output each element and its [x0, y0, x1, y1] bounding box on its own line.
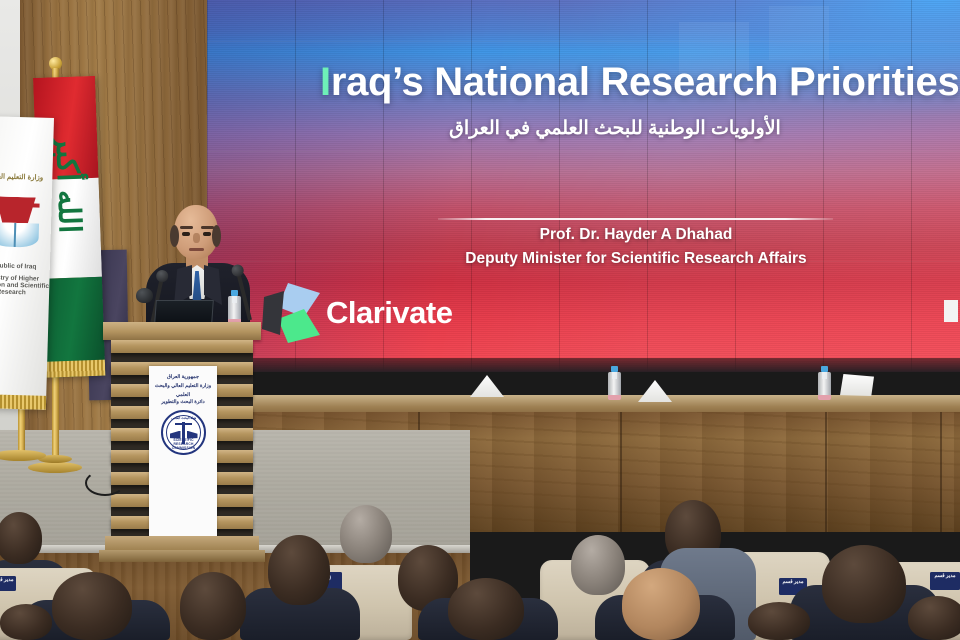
clarivate-wordmark: Clarivate — [326, 295, 452, 331]
flag-fringe — [43, 360, 106, 378]
table-napkin — [840, 374, 874, 396]
clarivate-logo: Clarivate — [258, 277, 458, 353]
bottle-neck — [822, 371, 827, 379]
podium-plinth — [99, 550, 265, 562]
attendee-head — [622, 568, 700, 640]
ministry-flag-arabic: وزارة التعليم العالي — [0, 172, 50, 184]
emblem-english-text: SCIENTIFIC RESEARCH COMMISSION — [163, 438, 204, 450]
chair-placard: مدير قسم — [0, 576, 16, 591]
flag-stand-base — [28, 462, 82, 473]
podium-sign-arabic-3: دائرة البحث والتطوير — [152, 398, 214, 407]
led-bottom-shadow — [207, 358, 960, 372]
conference-photo-scene: Iraq’s National Research Priorities الأو… — [0, 0, 960, 640]
attendee-head — [0, 604, 52, 640]
speaker-mouth — [189, 248, 204, 251]
podium-slat — [111, 340, 253, 353]
ministry-flag: وزارة التعليم العالي Republic of Iraq Mi… — [0, 116, 54, 410]
bottle-cap — [231, 290, 238, 296]
attendee-head — [0, 512, 42, 564]
speaker-nose — [193, 233, 200, 243]
placard-text: مدير قسم — [934, 573, 955, 579]
speaker-eye-left — [182, 232, 190, 236]
water-bottle — [608, 366, 621, 400]
bottle-cap — [821, 366, 828, 372]
screen-right-marker — [944, 300, 958, 322]
table-seam — [825, 412, 827, 532]
chair-placard: مدير قسم — [930, 572, 960, 590]
speaker-brow-right — [201, 226, 214, 229]
table-seam — [620, 412, 622, 532]
emblem-arabic-text: هيئة البحث العلمي — [163, 416, 204, 420]
attendee-head — [908, 596, 960, 640]
microphone-foam-left — [136, 288, 153, 303]
flag-fringe — [0, 394, 46, 410]
scientific-research-commission-emblem: هيئة البحث العلمي SCIENTIFIC RESEARCH CO… — [161, 410, 206, 455]
attendee-head — [571, 535, 625, 595]
crest-book — [0, 222, 39, 247]
speaker-eye-right — [203, 232, 211, 236]
bottle-neck — [232, 295, 237, 303]
ministry-crest-icon — [0, 196, 44, 254]
laptop-screen — [154, 300, 214, 324]
podium-top-surface — [103, 322, 261, 340]
water-bottle — [818, 366, 831, 400]
bottle-cap — [611, 366, 618, 372]
table-napkin — [638, 380, 672, 402]
placard-text: مدير قسم — [782, 579, 803, 585]
podium-cable — [85, 470, 125, 496]
attendee-head — [822, 545, 906, 623]
placard-text: مدير قسم — [0, 577, 14, 583]
attendee-head — [268, 535, 330, 605]
table-seam — [940, 412, 942, 532]
podium-body: جمهورية العراق وزارة التعليم العالي والب… — [111, 340, 253, 536]
slide-title-rest: raq’s National Research Priorities — [331, 60, 960, 104]
crest-top — [0, 196, 36, 223]
attendee-head — [180, 572, 246, 640]
speaking-podium: جمهورية العراق وزارة التعليم العالي والب… — [103, 322, 261, 562]
flag-inscription: الله أكبر — [50, 175, 87, 234]
slide-title: Iraq’s National Research Priorities — [320, 60, 960, 105]
slide-speaker-name: Prof. Dr. Hayder A Dhahad — [430, 226, 842, 244]
ministry-flag-english-2: Ministry of Higher Education and Scienti… — [0, 274, 50, 297]
attendee-head — [448, 578, 524, 640]
bottle-neck — [612, 371, 617, 379]
ministry-flag-english-1: Republic of Iraq — [0, 262, 50, 271]
speaker-hair-left — [170, 225, 179, 247]
slide-divider-rule — [438, 218, 833, 220]
slide-speaker-role: Deputy Minister for Scientific Research … — [418, 250, 854, 268]
attendee-head — [340, 505, 392, 563]
attendee-head — [748, 602, 810, 640]
attendee-head — [52, 572, 132, 640]
clarivate-mark-icon — [258, 277, 328, 349]
speaker-brow-left — [180, 226, 193, 229]
slide-title-accent-letter: I — [320, 60, 331, 104]
podium-water-bottle — [228, 290, 241, 324]
slide-subtitle-arabic: الأولويات الوطنية للبحث العلمي في العراق — [430, 117, 800, 140]
podium-sign-arabic-1: جمهورية العراق — [152, 373, 214, 382]
table-napkin — [470, 375, 504, 397]
podium-sign: جمهورية العراق وزارة التعليم العالي والب… — [149, 366, 217, 546]
